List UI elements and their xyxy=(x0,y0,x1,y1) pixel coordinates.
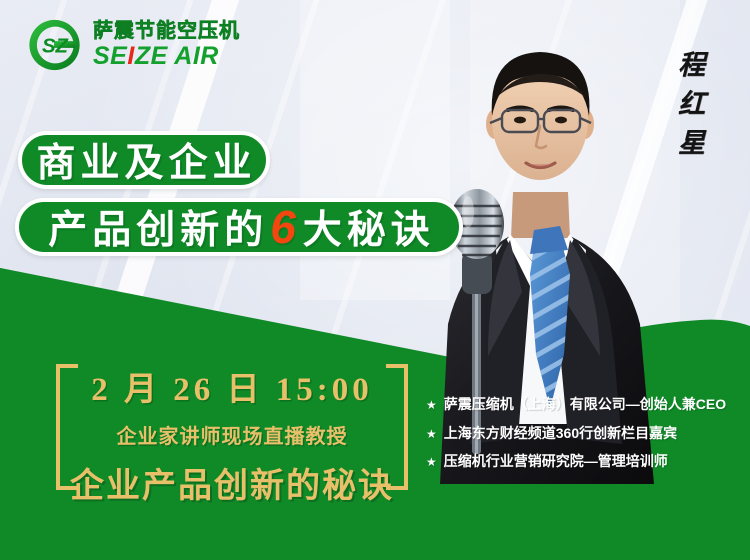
star-icon: ★ xyxy=(426,455,437,470)
svg-text:SZ: SZ xyxy=(42,36,70,58)
title-line2-pre: 产品创新的 xyxy=(48,209,268,252)
logo-chinese-name: 萨震节能空压机 xyxy=(93,21,240,41)
logo-en-post: ZE AIR xyxy=(135,42,219,70)
event-date-time: 2 月 26 日 15:00 xyxy=(52,362,412,410)
title-pill-line2: 产品创新的6大秘诀 xyxy=(15,198,463,256)
event-info-block: 2 月 26 日 15:00 企业家讲师现场直播教授 企业产品创新的秘诀 xyxy=(52,358,412,507)
bracket-left-decoration xyxy=(56,364,78,490)
brand-logo[interactable]: SZ 萨震节能空压机 SEIZE AIR xyxy=(26,16,240,74)
credential-text: 萨震压缩机（上海）有限公司—创始人兼CEO xyxy=(444,396,726,414)
credentials-list: ★ 萨震压缩机（上海）有限公司—创始人兼CEO ★ 上海东方财经频道360行创新… xyxy=(426,396,736,482)
star-icon: ★ xyxy=(426,427,437,442)
event-subtitle: 企业家讲师现场直播教授 xyxy=(52,420,412,449)
credential-text: 上海东方财经频道360行创新栏目嘉宾 xyxy=(444,425,677,443)
promo-poster: SZ 萨震节能空压机 SEIZE AIR 商业及企业 产品创新的6大秘诀 程红星… xyxy=(0,0,750,560)
credential-text: 压缩机行业营销研究院—管理培训师 xyxy=(444,453,668,471)
logo-en-accent: I xyxy=(127,42,134,70)
logo-en-pre: SE xyxy=(93,42,127,70)
list-item: ★ 压缩机行业营销研究院—管理培训师 xyxy=(426,453,736,471)
title-number-six: 6 xyxy=(268,201,303,253)
star-icon: ★ xyxy=(426,398,437,413)
title-pill-line1: 商业及企业 xyxy=(18,131,270,189)
title-line2-post: 大秘诀 xyxy=(303,209,435,252)
speaker-name-vertical: 程红星 xyxy=(669,50,708,167)
event-headline: 企业产品创新的秘诀 xyxy=(52,458,412,507)
bracket-right-decoration xyxy=(386,364,408,490)
sz-circle-logo-icon: SZ xyxy=(26,16,84,74)
logo-english-name: SEIZE AIR xyxy=(93,44,240,69)
list-item: ★ 萨震压缩机（上海）有限公司—创始人兼CEO xyxy=(426,396,736,414)
title-line2-text: 产品创新的6大秘诀 xyxy=(43,199,435,255)
list-item: ★ 上海东方财经频道360行创新栏目嘉宾 xyxy=(426,425,736,443)
title-line1-text: 商业及企业 xyxy=(31,132,256,188)
